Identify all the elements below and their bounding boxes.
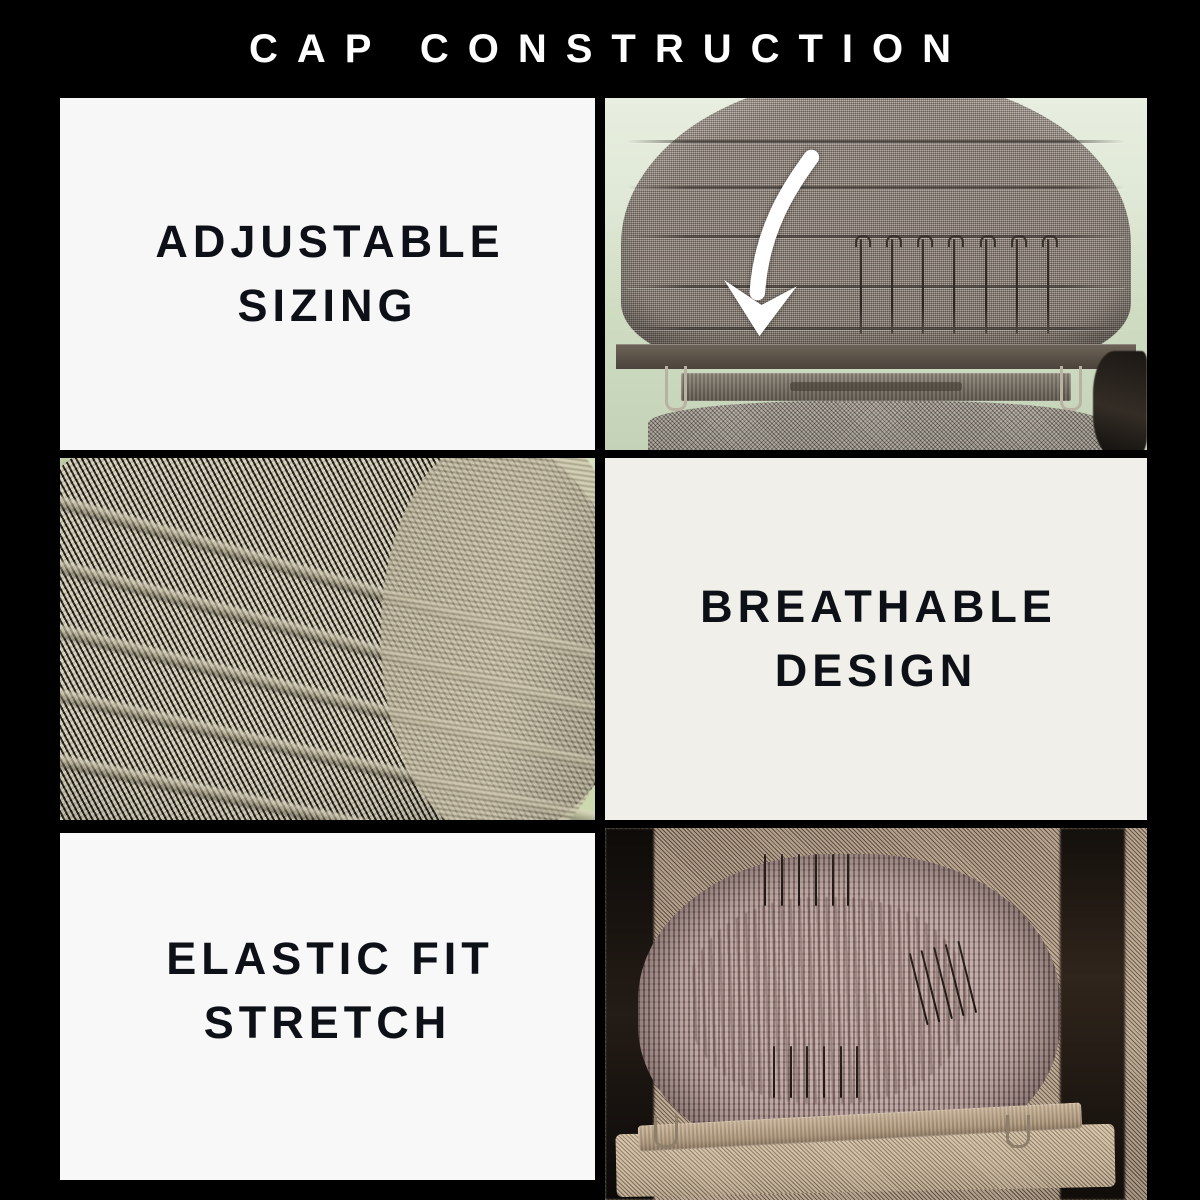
feature-card-adjustable-sizing: ADJUSTABLE SIZING [60, 98, 595, 450]
mesh-illustration [60, 458, 595, 820]
elastic-fit-stretch-line-2: STRETCH [204, 997, 452, 1048]
infographic-canvas: CAP CONSTRUCTION ADJUSTABLE SIZING [0, 0, 1200, 1200]
strap-hook-left [654, 1115, 678, 1148]
strap-hook-right [1006, 1115, 1030, 1148]
cap-back-band [616, 344, 1136, 369]
feature-card-elastic-fit-stretch: ELASTIC FIT STRETCH [60, 833, 595, 1180]
cap-interior-photo [605, 828, 1147, 1200]
cap-comb-top [764, 854, 848, 906]
cap-back-illustration [605, 98, 1147, 450]
adjustable-sizing-line-2: SIZING [237, 280, 417, 331]
elastic-fit-stretch-heading: ELASTIC FIT STRETCH [161, 927, 493, 1055]
strap-hook-left [665, 366, 687, 411]
strap-hook-right [1060, 366, 1082, 411]
mesh-crown-fold [381, 458, 595, 820]
adjustable-sizing-line-1: ADJUSTABLE [155, 216, 504, 267]
breathable-design-line-1: BREATHABLE [700, 581, 1057, 632]
cap-seam [627, 140, 1126, 143]
header-bar: CAP CONSTRUCTION [0, 0, 1200, 98]
cap-back-photo [605, 98, 1147, 450]
breathable-design-line-2: DESIGN [775, 645, 978, 696]
cap-seam [627, 186, 1126, 189]
elastic-fit-stretch-line-1: ELASTIC FIT [166, 933, 493, 984]
hair-strands [1093, 351, 1147, 450]
adjustable-sizing-heading: ADJUSTABLE SIZING [150, 210, 504, 338]
cap-interior-illustration [605, 828, 1147, 1200]
cap-comb-bottom [773, 1046, 857, 1098]
adjustable-strap [681, 373, 1071, 401]
breathable-design-heading: BREATHABLE DESIGN [695, 575, 1057, 703]
page-title: CAP CONSTRUCTION [230, 27, 970, 71]
feature-card-breathable-design: BREATHABLE DESIGN [605, 458, 1147, 820]
cap-lower-mesh [648, 401, 1103, 450]
cap-comb [860, 239, 1055, 334]
breathable-mesh-photo [60, 458, 595, 820]
